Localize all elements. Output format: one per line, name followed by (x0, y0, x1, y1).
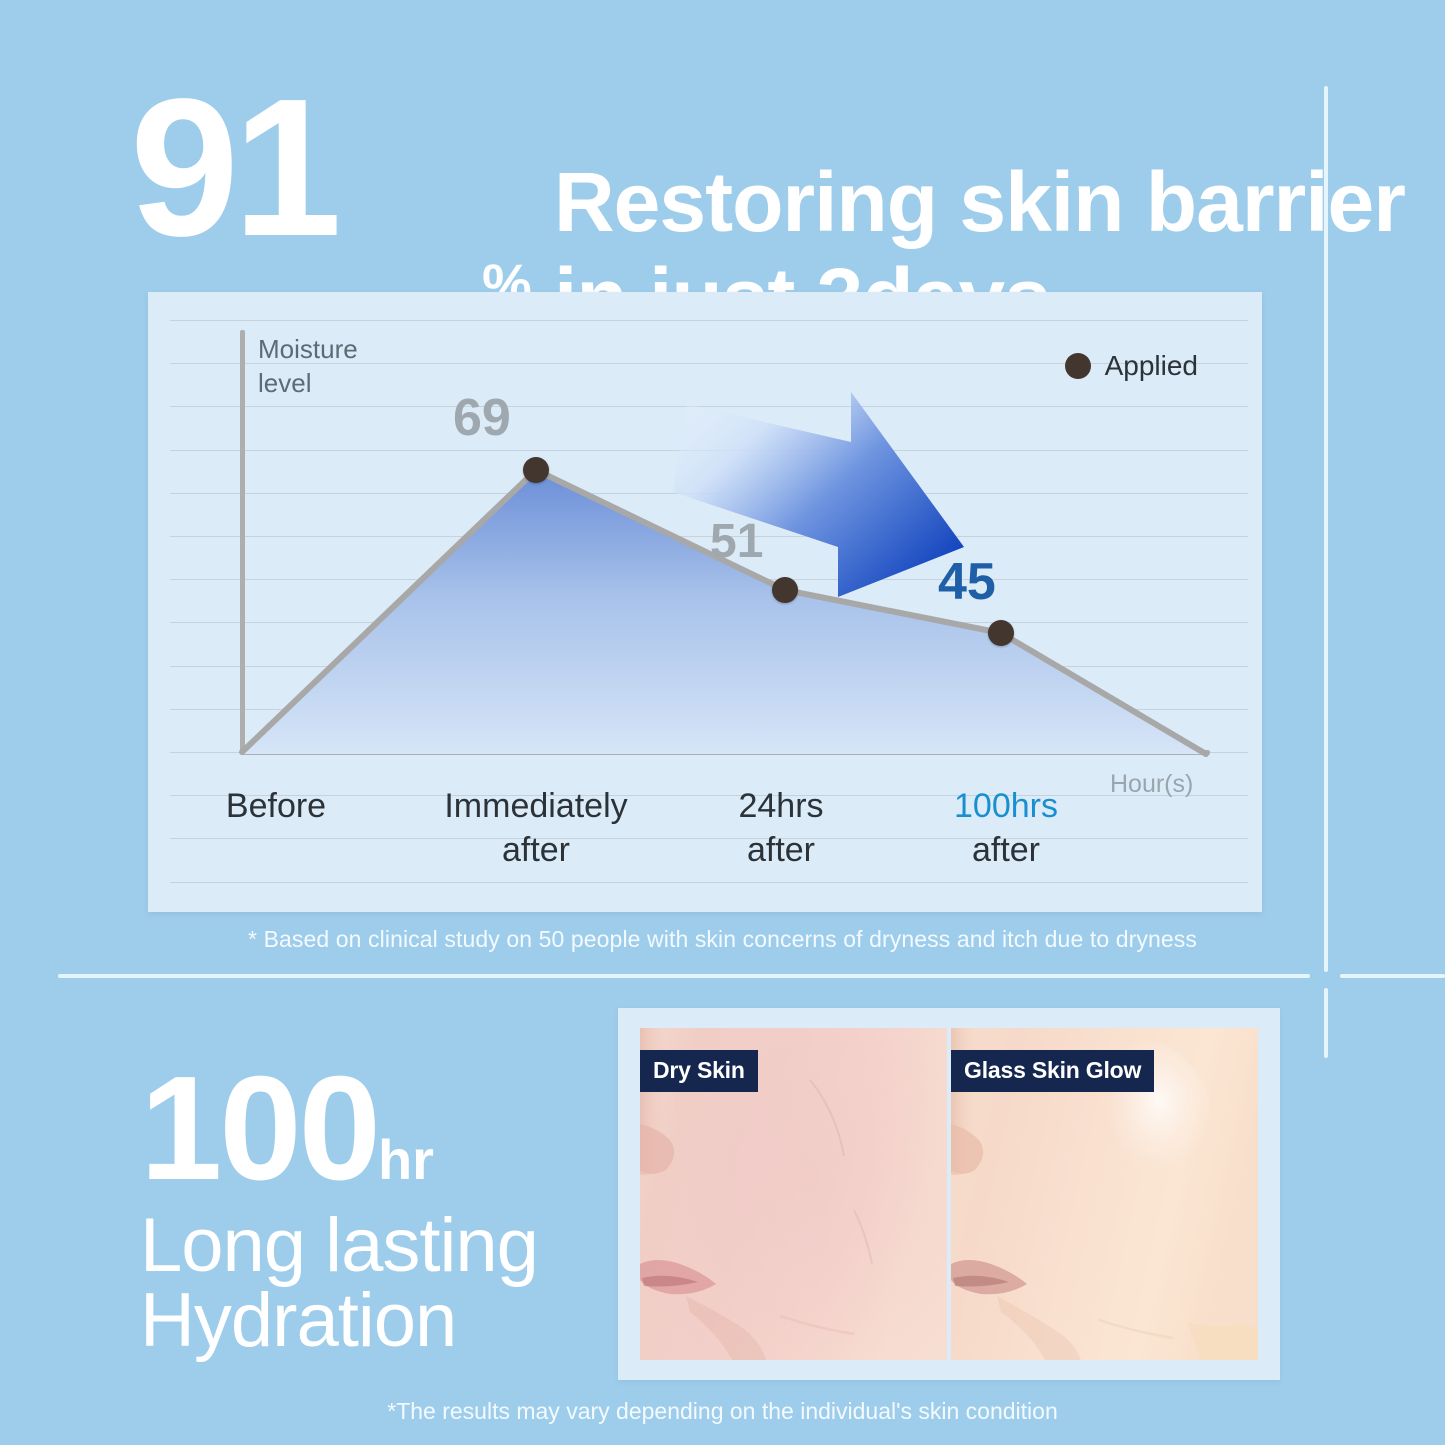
x-tick-line-2: after (686, 828, 876, 872)
x-tick-line-2: after (416, 828, 656, 872)
data-value-label-51: 51 (710, 514, 763, 569)
data-value-label-45: 45 (938, 552, 996, 612)
x-tick-label-24hrs-after: 24hrs after (686, 784, 876, 872)
x-tick-line-1: 24hrs (686, 784, 876, 828)
poster-canvas: 91 % Restoring skin barrier in just 3day… (0, 0, 1445, 1445)
headline-line-1: Restoring skin barrier (554, 160, 1405, 244)
lower-headline-block: 100hr (140, 1055, 610, 1203)
lower-line-1: Long lasting (140, 1208, 538, 1284)
bottom-vertical-divider (1324, 988, 1328, 1058)
photo-tag-glass-skin-glow: Glass Skin Glow (951, 1050, 1154, 1092)
data-point-marker (988, 620, 1014, 646)
x-tick-line-1: Before (166, 784, 386, 828)
x-tick-label-100hrs-after: 100hrs after (896, 784, 1116, 872)
x-tick-label-before: Before (166, 784, 386, 828)
x-tick-line-1: 100hrs (896, 784, 1116, 828)
headline-big-number: 91 (130, 70, 336, 266)
chart-x-axis-unit-label: Hour(s) (1110, 770, 1193, 799)
data-value-label-69: 69 (453, 388, 511, 448)
chart-panel: Moisture level Applied (148, 292, 1262, 912)
lower-unit-label: hr (378, 1132, 434, 1188)
lower-big-number: 100 (140, 1055, 378, 1203)
data-point-marker (523, 457, 549, 483)
photo-tag-dry-skin: Dry Skin (640, 1050, 758, 1092)
photo-footnote: *The results may vary depending on the i… (0, 1398, 1445, 1425)
photo-glass-skin-glow: Glass Skin Glow (951, 1028, 1258, 1360)
x-tick-line-2: after (896, 828, 1116, 872)
horizontal-divider-left (58, 974, 1310, 978)
chart-footnote: * Based on clinical study on 50 people w… (0, 926, 1445, 953)
x-tick-label-immediately-after: Immediately after (416, 784, 656, 872)
horizontal-divider-right (1340, 974, 1445, 978)
x-tick-line-1: Immediately (416, 784, 656, 828)
data-point-marker (772, 577, 798, 603)
photo-comparison-panel: Dry Skin (618, 1008, 1280, 1380)
headline-block: 91 % Restoring skin barrier in just 3day… (130, 78, 1310, 268)
lower-line-2: Hydration (140, 1283, 456, 1359)
photo-dry-skin: Dry Skin (640, 1028, 947, 1360)
